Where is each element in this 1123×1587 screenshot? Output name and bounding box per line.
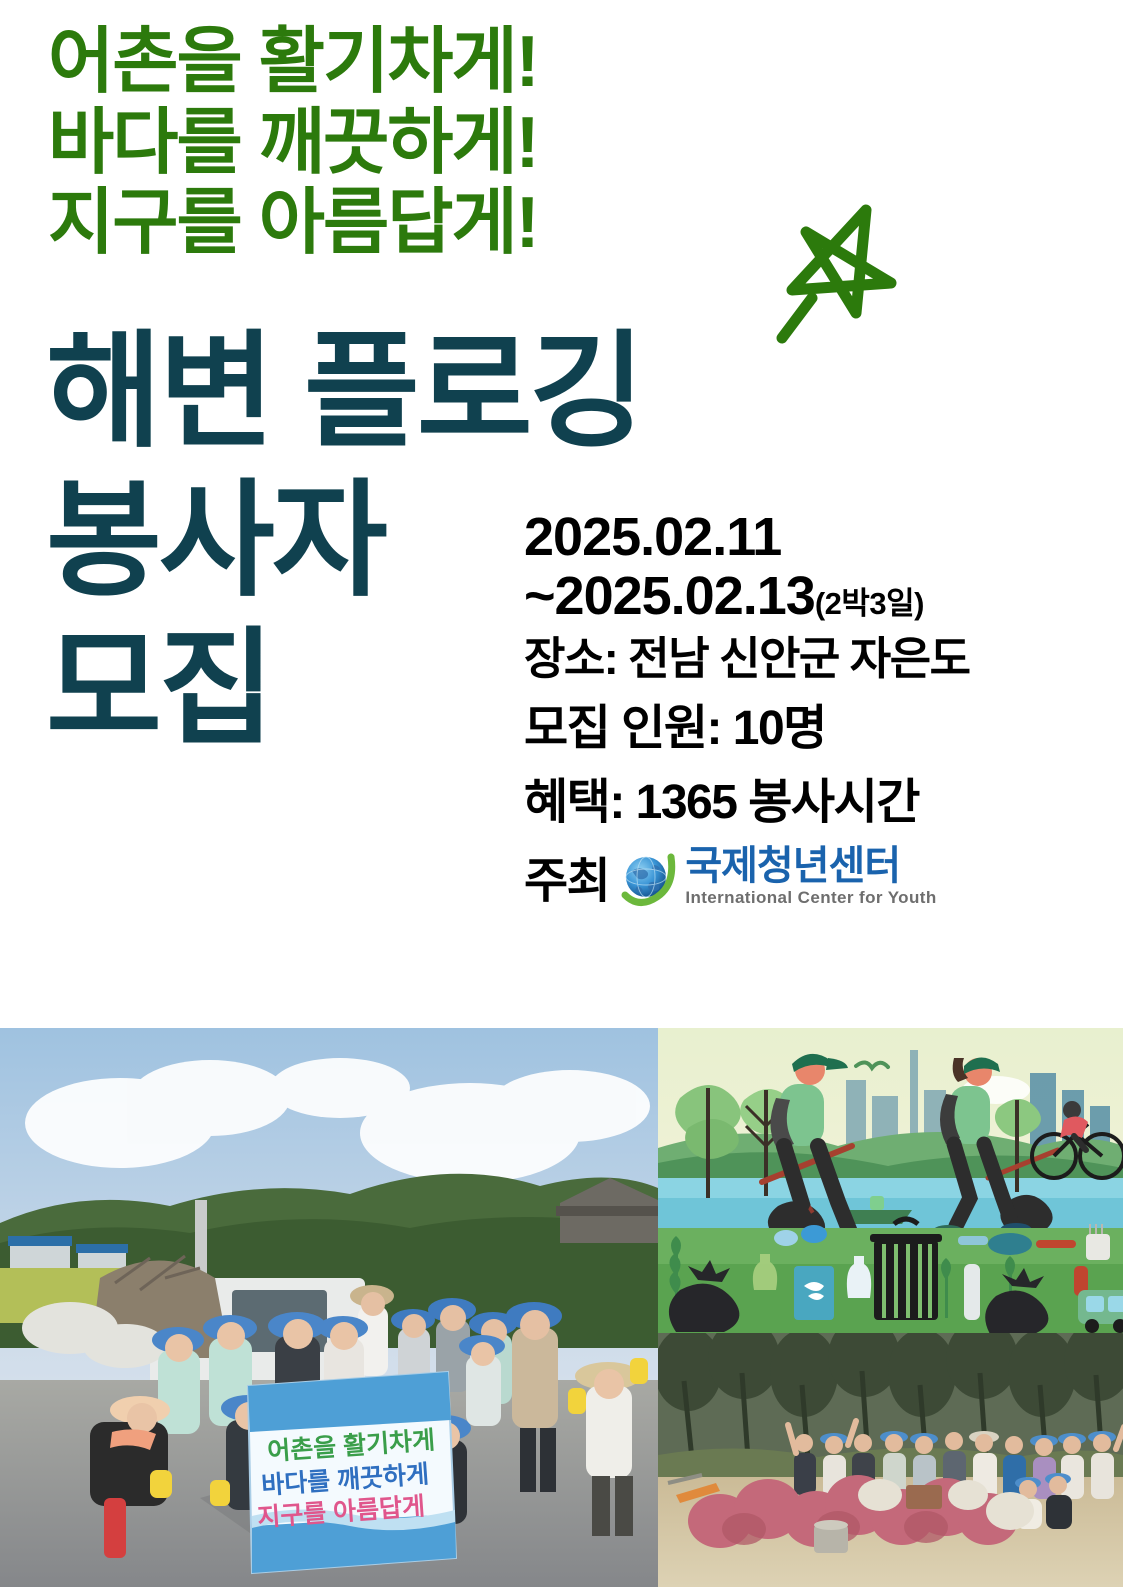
event-date-end: ~2025.02.13 (524, 566, 815, 626)
slogan-line-2: 바다를 깨끗하게! (48, 103, 768, 184)
star-doodle-icon (748, 188, 908, 353)
slogan-line-1: 어촌을 활기차게! (48, 22, 768, 103)
globe-icon (619, 845, 683, 907)
host-row: 주최 (524, 841, 1112, 911)
photo-plogging-illustration (658, 1028, 1123, 1333)
slogan-line-3: 지구를 아름답게! (48, 183, 768, 264)
photo-beach-cleanup (658, 1333, 1123, 1587)
photo-group-volunteers: 어촌을 활기차게 바다를 깨끗하게 지구를 아름답게 (0, 1028, 658, 1587)
event-duration: (2박3일) (815, 586, 924, 621)
info-panel: 2025.02.11 ~2025.02.13(2박3일) 장소: 전남 신안군 … (524, 508, 1112, 911)
logo-text: 국제청년센터 International Center for Youth (685, 846, 936, 906)
host-label: 주최 (524, 841, 609, 911)
slogan-block: 어촌을 활기차게! 바다를 깨끗하게! 지구를 아름답게! (48, 22, 768, 264)
recruit-capacity: 모집 인원: 10명 (524, 699, 1112, 759)
title-line-3: 모집 (46, 615, 566, 764)
organizer-logo: 국제청년센터 International Center for Youth (619, 845, 936, 907)
title-line-1: 해변 플로깅 (46, 318, 566, 467)
recruit-benefit: 혜택: 1365 봉사시간 (524, 773, 1112, 833)
event-date-end-row: ~2025.02.13(2박3일) (524, 567, 1112, 626)
logo-korean-name: 국제청년센터 (685, 846, 936, 886)
title-line-2: 봉사자 (46, 467, 566, 616)
page-title: 해변 플로깅 봉사자 모집 (46, 318, 566, 764)
poster-root: 어촌을 활기차게! 바다를 깨끗하게! 지구를 아름답게! 해변 플로깅 봉사자… (0, 0, 1123, 1587)
event-location: 장소: 전남 신안군 자은도 (524, 632, 1112, 685)
event-date-start: 2025.02.11 (524, 508, 1112, 567)
photo-grid: 어촌을 활기차게 바다를 깨끗하게 지구를 아름답게 (0, 1028, 1123, 1587)
logo-english-name: International Center for Youth (685, 889, 936, 906)
